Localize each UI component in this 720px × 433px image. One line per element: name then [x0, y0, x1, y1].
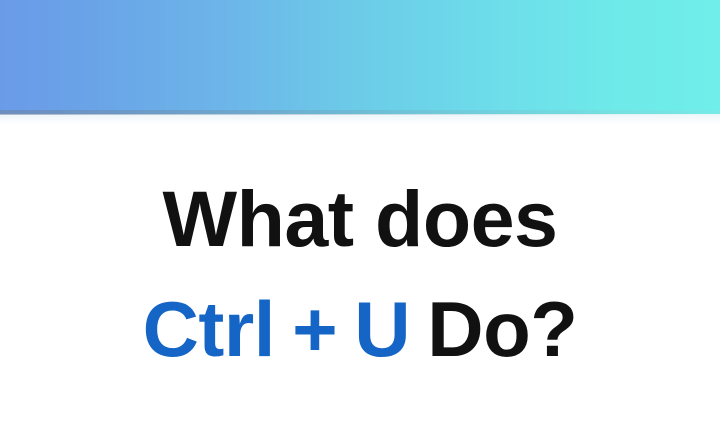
shortcut-modifier-text: Ctrl — [143, 285, 275, 373]
headline-line-1: What does — [0, 179, 720, 258]
headline-content: What does Ctrl+UDo? — [0, 115, 720, 433]
headline-trailing-text: Do? — [427, 285, 577, 373]
slide-canvas: What does Ctrl+UDo? — [0, 0, 720, 433]
shortcut-plus-symbol: + — [292, 285, 337, 373]
shortcut-key-text: U — [354, 285, 410, 373]
headline-line-2: Ctrl+UDo? — [0, 290, 720, 368]
top-gradient-banner — [0, 0, 720, 114]
